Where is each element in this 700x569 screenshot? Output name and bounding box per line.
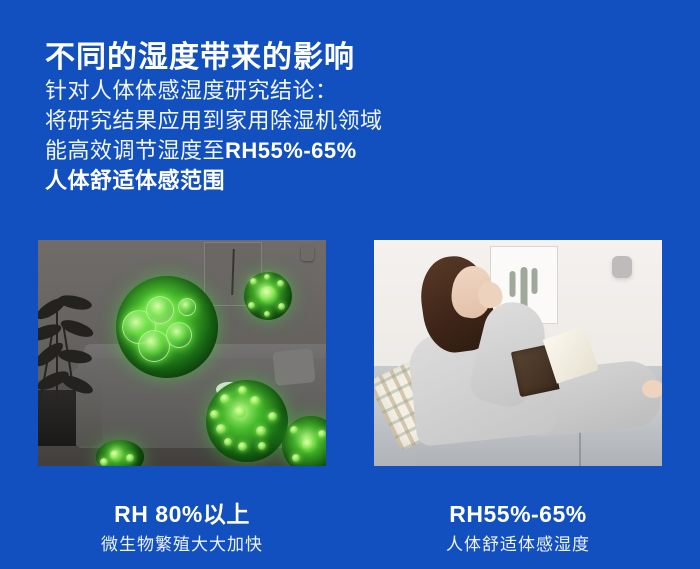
wall-speaker-icon <box>612 256 632 278</box>
wall-speaker-icon <box>301 246 314 261</box>
photo-panel-comfort-humidity <box>374 240 662 466</box>
caption-comfort-humidity: RH55%-65% 人体舒适体感湿度 <box>368 500 668 556</box>
caption-high-humidity: RH 80%以上 微生物繁殖大大加快 <box>32 500 332 556</box>
microbe-small-icon <box>244 272 292 320</box>
caption-subtitle: 微生物繁殖大大加快 <box>32 534 332 556</box>
body-line-3-prefix: 能高效调节湿度至 <box>45 138 225 163</box>
sofa-cushion <box>272 348 315 386</box>
bright-room-scene <box>374 240 662 466</box>
woman-foot <box>642 380 662 398</box>
house-plant <box>38 292 100 402</box>
body-line-3: 能高效调节湿度至RH55%-65% <box>45 136 475 166</box>
photo-panel-high-humidity <box>38 240 326 466</box>
page-title: 不同的湿度带来的影响 <box>45 38 355 78</box>
humidity-infographic: 不同的湿度带来的影响 针对人体体感湿度研究结论： 将研究结果应用到家用除湿机领域… <box>0 0 700 569</box>
caption-title: RH55%-65% <box>368 500 668 528</box>
body-line-2: 将研究结果应用到家用除湿机领域 <box>45 106 475 136</box>
dark-room-scene <box>38 240 326 466</box>
body-line-4: 人体舒适体感范围 <box>45 166 475 196</box>
microbe-medium-icon <box>206 380 288 462</box>
microbe-large-icon <box>116 276 218 378</box>
body-copy: 针对人体体感湿度研究结论： 将研究结果应用到家用除湿机领域 能高效调节湿度至RH… <box>45 76 475 196</box>
body-line-3-highlight: RH55%-65% <box>225 138 357 163</box>
microbe-bottom-icon <box>96 440 144 466</box>
caption-title: RH 80%以上 <box>32 500 332 528</box>
body-line-1: 针对人体体感湿度研究结论： <box>45 76 475 106</box>
caption-subtitle: 人体舒适体感湿度 <box>368 534 668 556</box>
